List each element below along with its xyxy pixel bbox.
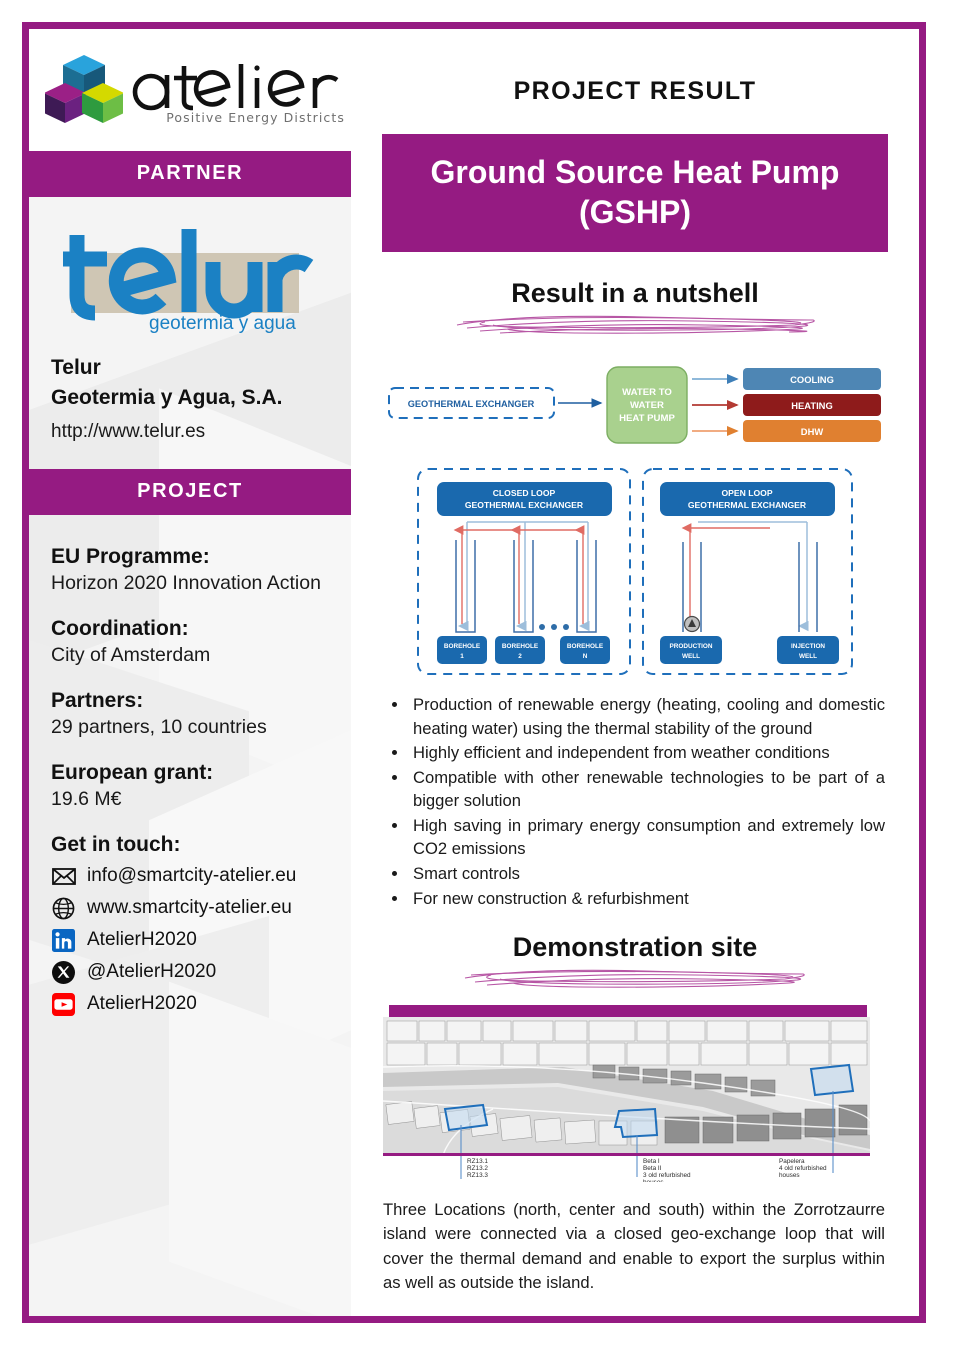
field-label-eu-programme: EU Programme:: [51, 545, 329, 569]
contact-label: Get in touch:: [51, 833, 329, 857]
map-label-rz13-3: RZ13.3: [467, 1172, 488, 1179]
svg-text:GEOTHERMAL EXCHANGER: GEOTHERMAL EXCHANGER: [465, 500, 584, 510]
atelier-cubes-icon: [45, 51, 123, 125]
page-border-frame: Positive Energy Districts PARTNER: [22, 22, 926, 1323]
map-image: RZ13.1 RZ13.2 RZ13.3 Beta I Beta II 3 ol…: [383, 1005, 887, 1182]
field-value-eu-programme: Horizon 2020 Innovation Action: [51, 572, 329, 595]
map-label-papelera-3: houses: [779, 1172, 800, 1179]
globe-icon: [51, 896, 76, 921]
gshp-flow-diagram: GEOTHERMAL EXCHANGER WATER TO WATER HEAT…: [385, 353, 885, 458]
label-geothermal-exchanger: GEOTHERMAL EXCHANGER: [408, 399, 535, 409]
map-label-papelera-2: 4 old refurbished: [779, 1165, 827, 1172]
field-value-partners: 29 partners, 10 countries: [51, 716, 329, 739]
partner-section-header: PARTNER: [29, 151, 351, 197]
contact-youtube-text: AtelierH2020: [87, 993, 197, 1015]
partner-name-line2: Geotermia y Agua, S.A.: [51, 383, 329, 413]
svg-text:WELL: WELL: [682, 653, 700, 660]
contact-x-text: @AtelierH2020: [87, 961, 216, 983]
demo-site-description: Three Locations (north, center and south…: [383, 1198, 885, 1295]
project-section-header: PROJECT: [29, 469, 351, 515]
contact-list: info@smartcity-atelier.eu www.smartcity-…: [51, 864, 329, 1017]
atelier-logo: Positive Energy Districts: [29, 29, 351, 151]
svg-text:HEAT PUMP: HEAT PUMP: [619, 413, 675, 424]
loop-types-diagram: CLOSED LOOP GEOTHERMAL EXCHANGER: [415, 464, 855, 679]
map-label-beta-2: Beta II: [643, 1165, 662, 1172]
heading-demonstration-site: Demonstration site: [379, 932, 891, 963]
field-value-european-grant: 19.6 M€: [51, 788, 329, 811]
svg-text:2: 2: [518, 653, 522, 660]
partner-logo: geotermia y agua: [29, 197, 351, 341]
envelope-icon: [51, 864, 76, 889]
contact-youtube[interactable]: AtelierH2020: [51, 992, 329, 1017]
svg-text:PRODUCTION: PRODUCTION: [670, 643, 713, 650]
scribble-underline-icon: [445, 311, 825, 337]
svg-text:BOREHOLE: BOREHOLE: [502, 643, 539, 650]
svg-text:WATER: WATER: [630, 400, 664, 411]
label-heating: HEATING: [791, 400, 833, 411]
field-label-european-grant: European grant:: [51, 761, 329, 785]
scribble-underline-icon: [455, 965, 815, 991]
svg-text:BOREHOLE: BOREHOLE: [567, 643, 604, 650]
sidebar: Positive Energy Districts PARTNER: [29, 29, 351, 1316]
contact-x-twitter[interactable]: @AtelierH2020: [51, 960, 329, 985]
watermark-shape: [169, 982, 351, 1316]
svg-text:WATER TO: WATER TO: [622, 387, 672, 398]
main-content: PROJECT RESULT Ground Source Heat Pump (…: [351, 29, 919, 1316]
youtube-icon: [51, 992, 76, 1017]
map-label-rz13-1: RZ13.1: [467, 1158, 488, 1165]
x-twitter-icon: [51, 960, 76, 985]
field-value-coordination: City of Amsterdam: [51, 644, 329, 667]
atelier-tagline: Positive Energy Districts: [129, 110, 347, 125]
map-label-beta-3: 3 old refurbished: [643, 1172, 691, 1179]
svg-text:CLOSED LOOP: CLOSED LOOP: [493, 488, 556, 498]
svg-text:INJECTION: INJECTION: [791, 643, 825, 650]
label-dhw: DHW: [801, 426, 824, 437]
list-item: Compatible with other renewable technolo…: [409, 766, 885, 813]
contact-website-text: www.smartcity-atelier.eu: [87, 897, 292, 919]
svg-text:N: N: [583, 653, 588, 660]
contact-email[interactable]: info@smartcity-atelier.eu: [51, 864, 329, 889]
map-label-papelera-1: Papelera: [779, 1158, 805, 1165]
partner-name: Telur Geotermia y Agua, S.A.: [29, 341, 351, 413]
telur-tagline: geotermia y agua: [149, 313, 296, 334]
demo-site-figure: RZ13.1 RZ13.2 RZ13.3 Beta I Beta II 3 ol…: [383, 1005, 887, 1182]
project-details: EU Programme: Horizon 2020 Innovation Ac…: [29, 515, 351, 1017]
field-label-coordination: Coordination:: [51, 617, 329, 641]
partner-name-line1: Telur: [51, 353, 329, 383]
list-item: For new construction & refurbishment: [409, 887, 885, 911]
contact-linkedin-text: AtelierH2020: [87, 929, 197, 951]
svg-text:1: 1: [460, 653, 464, 660]
heading-result-nutshell: Result in a nutshell: [379, 278, 891, 309]
poster-page: Positive Energy Districts PARTNER: [0, 0, 954, 1351]
svg-text:OPEN LOOP: OPEN LOOP: [721, 488, 772, 498]
page-inner: Positive Energy Districts PARTNER: [29, 29, 919, 1316]
list-item: Production of renewable energy (heating,…: [409, 693, 885, 740]
linkedin-icon: [51, 928, 76, 953]
eyebrow-project-result: PROJECT RESULT: [379, 29, 891, 134]
contact-website[interactable]: www.smartcity-atelier.eu: [51, 896, 329, 921]
feature-bullet-list: Production of renewable energy (heating,…: [391, 693, 885, 910]
result-title-banner: Ground Source Heat Pump (GSHP): [382, 134, 888, 252]
list-item: Smart controls: [409, 862, 885, 886]
svg-text:WELL: WELL: [799, 653, 817, 660]
contact-linkedin[interactable]: AtelierH2020: [51, 928, 329, 953]
map-label-rz13-2: RZ13.2: [467, 1165, 488, 1172]
label-cooling: COOLING: [790, 374, 834, 385]
list-item: High saving in primary energy consumptio…: [409, 814, 885, 861]
map-label-beta-1: Beta I: [643, 1158, 660, 1165]
svg-text:BOREHOLE: BOREHOLE: [444, 643, 481, 650]
field-label-partners: Partners:: [51, 689, 329, 713]
list-item: Highly efficient and independent from we…: [409, 741, 885, 765]
contact-email-text: info@smartcity-atelier.eu: [87, 865, 296, 887]
atelier-wordmark: [129, 60, 347, 116]
map-label-beta-4: houses: [643, 1179, 664, 1182]
svg-text:GEOTHERMAL EXCHANGER: GEOTHERMAL EXCHANGER: [688, 500, 807, 510]
partner-url[interactable]: http://www.telur.es: [29, 413, 351, 469]
